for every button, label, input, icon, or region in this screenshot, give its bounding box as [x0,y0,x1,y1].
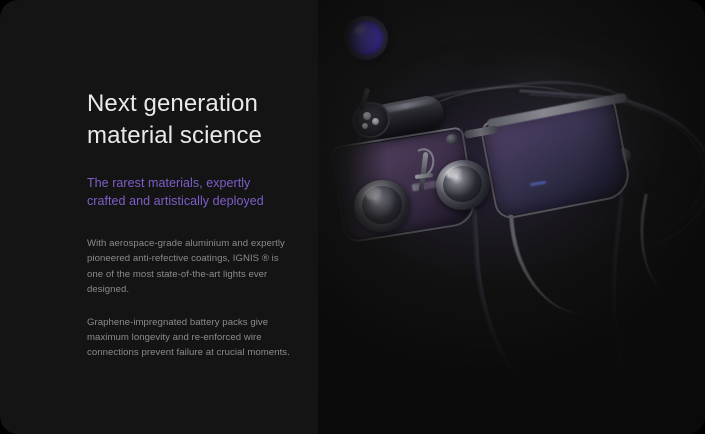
loupe-mount-clip [446,134,458,145]
body-paragraph-1: With aerospace-grade aluminium and exper… [87,210,292,297]
product-photo [318,0,705,434]
page-title: Next generation material science [87,88,302,152]
body-paragraph-2: Graphene-impregnated battery packs give … [87,297,292,360]
led-emitter-dot [362,123,368,129]
led-emitter-dot [363,112,371,120]
led-emitter-dot [372,118,379,125]
subtitle: The rarest materials, expertly crafted a… [87,152,302,211]
text-column: Next generation material science The rar… [87,88,302,360]
product-feature-card: Next generation material science The rar… [0,0,705,434]
